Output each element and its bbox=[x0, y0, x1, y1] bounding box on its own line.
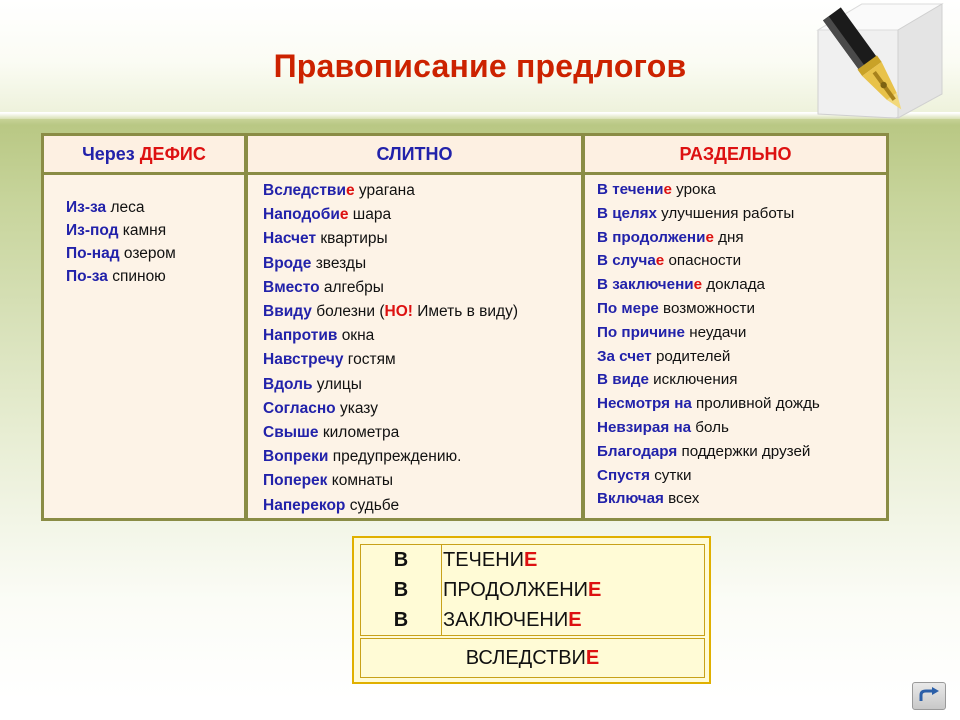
item-part: Спустя bbox=[597, 467, 654, 484]
item-part: улицы bbox=[317, 376, 362, 393]
column-body-separate: В течение урока В целях улучшения работы… bbox=[585, 175, 886, 518]
item-part: НО! bbox=[385, 303, 413, 320]
item-part: боль bbox=[695, 419, 729, 436]
summary-left: В bbox=[361, 545, 441, 575]
list-item: По-над озером bbox=[66, 242, 244, 265]
column-header-hyphen: Через ДЕФИС bbox=[44, 136, 244, 172]
list-item: Невзирая на боль bbox=[597, 416, 886, 440]
item-part: доклада bbox=[702, 276, 765, 293]
list-item: Вследствие урагана bbox=[263, 179, 581, 203]
item-part: комнаты bbox=[332, 472, 393, 489]
summary-right: ПРОДОЛЖЕНИЕ bbox=[443, 575, 601, 605]
table-column-hyphen: Через ДЕФИС Из-за леса Из-под камня По-н… bbox=[44, 136, 244, 518]
item-part: урагана bbox=[355, 182, 415, 199]
summary-row: В ПРОДОЛЖЕНИЕ bbox=[361, 575, 704, 605]
list-item: Навстречу гостям bbox=[263, 348, 581, 372]
list-together: Вследствие урагана Наподобие шара Насчет… bbox=[263, 179, 581, 518]
item-part: Вроде bbox=[263, 255, 316, 272]
item-part: исключения bbox=[653, 371, 737, 388]
list-item: Включая всех bbox=[597, 487, 886, 511]
item-part: Наподоби bbox=[263, 206, 340, 223]
item-part: По мере bbox=[597, 300, 663, 317]
item-part: В виде bbox=[597, 371, 653, 388]
column-body-hyphen: Из-за леса Из-под камня По-над озером По… bbox=[44, 175, 244, 518]
summary-right: ЗАКЛЮЧЕНИЕ bbox=[443, 605, 582, 635]
item-part: По-над bbox=[66, 245, 124, 262]
item-part: В заключени bbox=[597, 276, 694, 293]
item-part: километра bbox=[323, 424, 399, 441]
list-item: Свыше километра bbox=[263, 421, 581, 445]
list-item: Наподобие шара bbox=[263, 203, 581, 227]
item-part: Вследстви bbox=[263, 182, 346, 199]
item-part: В течени bbox=[597, 181, 663, 198]
item-part: Е bbox=[586, 647, 599, 669]
prepositions-table: Через ДЕФИС Из-за леса Из-под камня По-н… bbox=[41, 133, 889, 521]
item-part: Наперекор bbox=[263, 497, 350, 514]
item-part: ВСЛЕДСТВИ bbox=[466, 647, 586, 669]
return-arrow-icon[interactable] bbox=[912, 682, 946, 710]
item-part: озером bbox=[124, 245, 176, 262]
list-item: В виде исключения bbox=[597, 368, 886, 392]
item-part: Благодаря bbox=[597, 443, 681, 460]
list-item: За счет родителей bbox=[597, 345, 886, 369]
item-part: Невзирая на bbox=[597, 419, 695, 436]
item-part: Навстречу bbox=[263, 351, 348, 368]
item-part: Из-под bbox=[66, 222, 123, 239]
item-part: квартиры bbox=[320, 230, 387, 247]
header-text-part: СЛИТНО bbox=[376, 144, 452, 164]
item-part: гостям bbox=[348, 351, 396, 368]
item-part: Е bbox=[588, 579, 601, 601]
list-item: Вроде звезды bbox=[263, 252, 581, 276]
item-part: Вдоль bbox=[263, 376, 317, 393]
item-part: За счет bbox=[597, 348, 656, 365]
table-column-together: СЛИТНО Вследствие урагана Наподобие шара… bbox=[248, 136, 581, 518]
list-item: Вопреки предупреждению. bbox=[263, 445, 581, 469]
item-part: алгебры bbox=[324, 279, 384, 296]
list-separate: В течение урока В целях улучшения работы… bbox=[597, 178, 886, 511]
slide-background: Правописание предлогов Через ДЕФИС bbox=[0, 0, 960, 720]
list-item: По причине неудачи bbox=[597, 321, 886, 345]
list-item: Благодаря поддержки друзей bbox=[597, 440, 886, 464]
item-part: дня bbox=[714, 229, 744, 246]
item-part: возможности bbox=[663, 300, 755, 317]
item-part: неудачи bbox=[689, 324, 746, 341]
summary-left: В bbox=[361, 575, 441, 605]
item-part: Вместо bbox=[263, 279, 324, 296]
item-part: указу bbox=[340, 400, 378, 417]
item-part: Из-за bbox=[66, 199, 110, 216]
item-part: Насчет bbox=[263, 230, 320, 247]
item-part: поддержки друзей bbox=[681, 443, 810, 460]
list-item: По мере возможности bbox=[597, 297, 886, 321]
list-item: По-за спиною bbox=[66, 265, 244, 288]
summary-row: В ЗАКЛЮЧЕНИЕ bbox=[361, 605, 704, 635]
item-part: болезни ( bbox=[316, 303, 384, 320]
list-item: Несмотря на проливной дождь bbox=[597, 392, 886, 416]
item-part: Е bbox=[524, 549, 537, 571]
item-part: В случа bbox=[597, 252, 656, 269]
item-part: предупреждению. bbox=[333, 448, 462, 465]
item-part: ПРОДОЛЖЕНИ bbox=[443, 579, 588, 601]
header-text-part: Через bbox=[82, 144, 140, 164]
item-part: В целях bbox=[597, 205, 661, 222]
list-item: Напротив окна bbox=[263, 324, 581, 348]
item-part: леса bbox=[110, 199, 144, 216]
summary-box-upper: В ТЕЧЕНИЕ В ПРОДОЛЖЕНИЕ В ЗАКЛЮЧЕНИЕ bbox=[360, 544, 705, 636]
list-item: Наперекор судьбе bbox=[263, 494, 581, 518]
item-part: шара bbox=[348, 206, 391, 223]
item-part: е bbox=[346, 182, 355, 199]
item-part: е bbox=[705, 229, 713, 246]
item-part: Напротив bbox=[263, 327, 342, 344]
summary-box: В ТЕЧЕНИЕ В ПРОДОЛЖЕНИЕ В ЗАКЛЮЧЕНИЕ ВСЛ… bbox=[352, 536, 711, 684]
item-part: окна bbox=[342, 327, 375, 344]
item-part: Включая bbox=[597, 490, 668, 507]
item-part: По-за bbox=[66, 268, 112, 285]
column-header-separate: РАЗДЕЛЬНО bbox=[585, 136, 886, 172]
item-part: всех bbox=[668, 490, 699, 507]
item-part: Ввиду bbox=[263, 303, 316, 320]
list-item: В заключение доклада bbox=[597, 273, 886, 297]
list-item: В случае опасности bbox=[597, 249, 886, 273]
table-column-separate: РАЗДЕЛЬНО В течение урока В целях улучше… bbox=[585, 136, 886, 518]
item-part: е bbox=[663, 181, 671, 198]
item-part: сутки bbox=[654, 467, 691, 484]
item-part: спиною bbox=[112, 268, 166, 285]
list-item: Из-под камня bbox=[66, 219, 244, 242]
item-part: родителей bbox=[656, 348, 730, 365]
item-part: камня bbox=[123, 222, 166, 239]
item-part: урока bbox=[672, 181, 716, 198]
summary-bottom-row: ВСЛЕДСТВИЕ bbox=[361, 639, 704, 677]
item-part: проливной дождь bbox=[696, 395, 820, 412]
list-item: Насчет квартиры bbox=[263, 227, 581, 251]
item-part: ТЕЧЕНИ bbox=[443, 549, 524, 571]
list-item: Ввиду болезни (НО! Иметь в виду) bbox=[263, 300, 581, 324]
item-part: Несмотря на bbox=[597, 395, 696, 412]
item-part: судьбе bbox=[350, 497, 399, 514]
list-item: Вместо алгебры bbox=[263, 276, 581, 300]
item-part: Е bbox=[568, 609, 581, 631]
list-item: Согласно указу bbox=[263, 397, 581, 421]
list-item: В течение урока bbox=[597, 178, 886, 202]
summary-box-lower: ВСЛЕДСТВИЕ bbox=[360, 638, 705, 678]
item-part: Согласно bbox=[263, 400, 340, 417]
list-item: В продолжение дня bbox=[597, 226, 886, 250]
item-part: улучшения работы bbox=[661, 205, 794, 222]
header-text-part: ДЕФИС bbox=[140, 144, 206, 164]
item-part: Свыше bbox=[263, 424, 323, 441]
list-item: Вдоль улицы bbox=[263, 373, 581, 397]
header-text-part: РАЗДЕЛЬНО bbox=[679, 144, 791, 164]
fountain-pen-icon bbox=[800, 2, 950, 120]
item-part: Вопреки bbox=[263, 448, 333, 465]
list-item: Спустя сутки bbox=[597, 464, 886, 488]
summary-right: ТЕЧЕНИЕ bbox=[443, 545, 537, 575]
item-part: Поперек bbox=[263, 472, 332, 489]
list-item: Поперек комнаты bbox=[263, 469, 581, 493]
item-part: По причине bbox=[597, 324, 689, 341]
item-part: опасности bbox=[664, 252, 741, 269]
column-header-together: СЛИТНО bbox=[248, 136, 581, 172]
item-part: е bbox=[656, 252, 664, 269]
list-hyphen: Из-за леса Из-под камня По-над озером По… bbox=[66, 196, 244, 288]
column-body-together: Вследствие урагана Наподобие шара Насчет… bbox=[248, 175, 581, 518]
summary-left: В bbox=[361, 605, 441, 635]
summary-row: В ТЕЧЕНИЕ bbox=[361, 545, 704, 575]
item-part: Иметь в виду) bbox=[413, 303, 518, 320]
list-item: В целях улучшения работы bbox=[597, 202, 886, 226]
item-part: е bbox=[694, 276, 702, 293]
item-part: звезды bbox=[316, 255, 366, 272]
item-part: ЗАКЛЮЧЕНИ bbox=[443, 609, 568, 631]
item-part: В продолжени bbox=[597, 229, 705, 246]
list-item: Из-за леса bbox=[66, 196, 244, 219]
